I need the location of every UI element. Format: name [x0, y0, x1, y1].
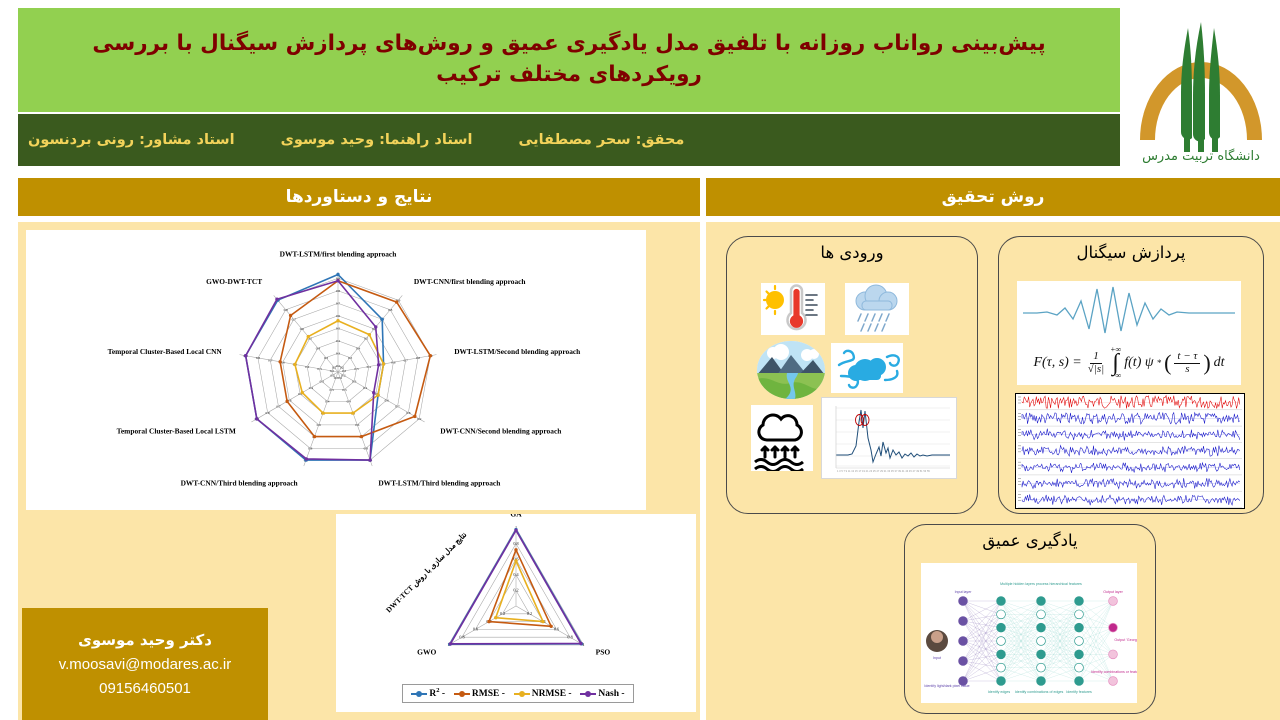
svg-text:0.9: 0.9 [417, 417, 422, 421]
neural-network-icon: Input layerMultiple hidden layers proces… [921, 563, 1137, 703]
svg-text:0.2: 0.2 [332, 365, 337, 369]
svg-text:0.8: 0.8 [416, 356, 421, 360]
svg-text:0.4: 0.4 [367, 365, 372, 369]
svg-text:Identify edges: Identify edges [988, 690, 1011, 694]
svg-text:0.5: 0.5 [336, 326, 341, 330]
svg-text:DWT-CNN/first blending approac: DWT-CNN/first blending approach [414, 277, 526, 286]
section-header-results-label: نتایج و دستاوردها [286, 187, 433, 207]
legend-swatch-rmse [454, 693, 470, 695]
svg-text:GWO: GWO [417, 648, 436, 657]
wavelet-formula-text: F(τ, s) = 1 √|s| +∞ ∫ −∞ f(t) ψ * ( t − … [1033, 346, 1224, 380]
author-supervisor: استاد راهنما: وحید موسوی [281, 132, 473, 148]
flood-icon [751, 405, 813, 471]
svg-text:0.8: 0.8 [567, 634, 572, 639]
inputs-box-title: ورودی ها [727, 243, 977, 262]
legend-item-r2: R2 - [411, 687, 445, 699]
svg-text:0.3: 0.3 [342, 388, 347, 392]
svg-text:0.2: 0.2 [330, 369, 335, 373]
svg-text:0.7: 0.7 [404, 358, 409, 362]
svg-text:DWT-LSTM/Third blending approa: DWT-LSTM/Third blending approach [378, 478, 500, 487]
contact-box: دکتر وحید موسوی v.moosavi@modares.ac.ir … [22, 608, 268, 720]
section-header-method-label: روش تحقیق [942, 187, 1045, 207]
svg-text:0.6: 0.6 [554, 627, 559, 632]
legend-item-rmse: RMSE - [454, 689, 505, 699]
svg-text:DWT-LSTM/Second blending appro: DWT-LSTM/Second blending approach [454, 347, 580, 356]
svg-text:DWT-CNN/Second blending approa: DWT-CNN/Second blending approach [440, 427, 561, 436]
svg-text:0.2: 0.2 [330, 373, 335, 377]
svg-text:0.8: 0.8 [266, 411, 271, 415]
svg-text:Identify combinations or featu: Identify combinations or features [1091, 670, 1137, 674]
author-advisor: استاد مشاور: رونی بردنسون [28, 132, 235, 148]
svg-text:Input: Input [933, 656, 941, 660]
poster-title-band: پیش‌بینی رواناب روزانه با تلفیق مدل یادگ… [18, 8, 1120, 112]
legend-swatch-nash [580, 693, 596, 695]
svg-text:0.2: 0.2 [338, 376, 343, 380]
svg-text:Output 'George': Output 'George' [1114, 638, 1137, 642]
formula-dt: dt [1214, 355, 1225, 371]
formula-den: √|s| [1085, 364, 1107, 376]
integral-sign-icon: ∫ [1112, 354, 1119, 372]
formula-paren-close: ) [1203, 350, 1210, 376]
model-comparison-radar-chart: 0.20.20.20.20.20.20.20.20.20.30.30.30.30… [26, 230, 646, 510]
temperature-icon [761, 283, 825, 335]
svg-text:0.6: 0.6 [385, 398, 390, 402]
svg-text:Input layer: Input layer [955, 590, 973, 594]
page-title: پیش‌بینی رواناب روزانه با تلفیق مدل یادگ… [44, 29, 1094, 90]
svg-text:0.4: 0.4 [309, 386, 314, 390]
formula-inner-den: s [1182, 364, 1192, 376]
author-band: محقق: سحر مصطفایی استاد راهنما: وحید موس… [18, 114, 1120, 166]
svg-text:Output layer: Output layer [1103, 590, 1123, 594]
svg-text:0.3: 0.3 [336, 351, 341, 355]
svg-text:Identify light/dark pixel valu: Identify light/dark pixel value [924, 684, 969, 688]
formula-paren-open: ( [1164, 350, 1171, 376]
svg-text:GA: GA [510, 514, 522, 519]
svg-text:0.8: 0.8 [459, 634, 464, 639]
legend-swatch-r2 [411, 693, 427, 695]
svg-text:0.7: 0.7 [276, 405, 281, 409]
wavelet-waveform-icon [1017, 281, 1241, 341]
svg-text:0.3: 0.3 [354, 367, 359, 371]
svg-text:0.7: 0.7 [336, 301, 341, 305]
svg-text:DWT-LSTM/first blending approa: DWT-LSTM/first blending approach [280, 250, 397, 259]
svg-text:0.3: 0.3 [324, 356, 329, 360]
legend-label-r2: R2 - [429, 687, 445, 699]
svg-text:0.4: 0.4 [363, 386, 368, 390]
deep-learning-box-title: یادگیری عمیق [905, 531, 1155, 550]
svg-text:0.6: 0.6 [300, 327, 305, 331]
svg-text:0.6: 0.6 [336, 314, 341, 318]
formula-lhs: F(τ, s) = [1033, 355, 1081, 371]
svg-text:0.4: 0.4 [305, 365, 310, 369]
inputs-box: ورودی ها [726, 236, 978, 514]
method-panel: ورودی ها [706, 222, 1280, 720]
svg-text:Temporal Cluster-Based Local L: Temporal Cluster-Based Local LSTM [117, 427, 236, 436]
optimizer-comparison-radar-chart: 0.20.20.20.40.40.40.60.60.60.80.80.8111G… [336, 514, 696, 712]
svg-text:0.4: 0.4 [513, 572, 519, 577]
legend-swatch-nrmse [514, 693, 530, 695]
svg-text:DWT-CNN/Third blending approac: DWT-CNN/Third blending approach [181, 478, 298, 487]
wind-icon [831, 343, 903, 393]
formula-star: * [1157, 358, 1162, 368]
formula-num: 1 [1090, 351, 1102, 364]
svg-text:0.7: 0.7 [292, 318, 297, 322]
wavelet-decomposition-icon [1015, 393, 1245, 509]
svg-text:Identify combinations of edges: Identify combinations of edges [1015, 690, 1064, 694]
svg-text:نتایج مدل سازی با روش DWT-TCT: نتایج مدل سازی با روش DWT-TCT [384, 530, 469, 615]
runoff-timeseries-icon: 1 3 5 7 9 11 13 15 17 19 21 23 25 27 29 … [821, 397, 957, 479]
svg-text:0.7: 0.7 [395, 405, 400, 409]
contact-name: دکتر وحید موسوی [78, 631, 212, 649]
legend-item-nrmse: NRMSE - [514, 689, 572, 699]
formula-body: f(t) ψ [1124, 355, 1153, 371]
university-logo-icon: دانشگاه تربیت مدرس [1126, 8, 1276, 168]
legend-label-nash: Nash - [598, 689, 624, 699]
section-header-method: روش تحقیق [706, 178, 1280, 216]
author-researcher: محقق: سحر مصطفایی [518, 132, 684, 148]
svg-text:0.4: 0.4 [347, 400, 352, 404]
svg-text:0.2: 0.2 [527, 611, 532, 616]
contact-email[interactable]: v.moosavi@modares.ac.ir [59, 656, 232, 673]
svg-text:Multiple hidden layers process: Multiple hidden layers process hierarchi… [1000, 582, 1082, 586]
svg-text:0.3: 0.3 [352, 380, 357, 384]
formula-lower: −∞ [1110, 372, 1121, 380]
svg-text:0.4: 0.4 [356, 346, 361, 350]
svg-text:Temporal Cluster-Based Local C: Temporal Cluster-Based Local CNN [108, 347, 223, 356]
legend-item-nash: Nash - [580, 689, 624, 699]
formula-inner-frac: t − τ s [1174, 351, 1200, 375]
svg-text:0.6: 0.6 [355, 423, 360, 427]
formula-integral: +∞ ∫ −∞ [1110, 346, 1121, 380]
signal-processing-box-title: پردازش سیگنال [999, 243, 1263, 262]
svg-text:0.6: 0.6 [317, 423, 322, 427]
svg-text:0.8: 0.8 [308, 447, 313, 451]
svg-text:0.2: 0.2 [500, 611, 505, 616]
svg-text:0.7: 0.7 [268, 358, 273, 362]
svg-text:0.2: 0.2 [513, 588, 518, 593]
rainfall-icon [845, 283, 909, 335]
svg-text:دانشگاه تربیت مدرس: دانشگاه تربیت مدرس [1142, 148, 1260, 164]
svg-text:PSO: PSO [596, 648, 611, 657]
svg-text:0.3: 0.3 [320, 380, 325, 384]
svg-text:1 3 5 7 9 11 13 15 17 19 21 23: 1 3 5 7 9 11 13 15 17 19 21 23 25 27 29 … [837, 469, 930, 473]
svg-text:0.6: 0.6 [473, 627, 478, 632]
svg-text:0.3: 0.3 [329, 388, 334, 392]
contact-phone: 09156460501 [99, 680, 191, 697]
catchment-icon [757, 341, 825, 399]
svg-text:0.8: 0.8 [513, 541, 518, 546]
svg-text:0.4: 0.4 [325, 400, 330, 404]
svg-text:0.8: 0.8 [336, 289, 341, 293]
legend-label-rmse: RMSE - [472, 689, 505, 699]
svg-text:0.4: 0.4 [336, 339, 341, 343]
wavelet-formula: F(τ, s) = 1 √|s| +∞ ∫ −∞ f(t) ψ * ( t − … [1017, 341, 1241, 385]
formula-inner-num: t − τ [1174, 351, 1200, 364]
poster-root: پیش‌بینی رواناب روزانه با تلفیق مدل یادگ… [0, 0, 1280, 720]
deep-learning-box: یادگیری عمیق Input layerMultiple hidden … [904, 524, 1156, 714]
svg-text:0.5: 0.5 [364, 337, 369, 341]
section-header-results: نتایج و دستاوردها [18, 178, 700, 216]
formula-prefactor: 1 √|s| [1085, 351, 1107, 375]
svg-text:GWO-DWT-TCT: GWO-DWT-TCT [206, 277, 262, 286]
svg-text:Identify features: Identify features [1066, 690, 1092, 694]
svg-text:0.3: 0.3 [317, 367, 322, 371]
signal-processing-box: پردازش سیگنال F(τ, s) = 1 √|s| +∞ ∫ [998, 236, 1264, 514]
svg-text:0.8: 0.8 [388, 308, 393, 312]
svg-text:0.4: 0.4 [316, 346, 321, 350]
svg-text:0.3: 0.3 [348, 356, 353, 360]
svg-text:0.6: 0.6 [391, 360, 396, 364]
svg-text:0.8: 0.8 [406, 411, 411, 415]
svg-text:0.8: 0.8 [364, 447, 369, 451]
svg-text:0.8: 0.8 [284, 308, 289, 312]
svg-text:0.8: 0.8 [256, 356, 261, 360]
radar-legend: R2 - RMSE - NRMSE - Nash - [402, 684, 634, 703]
legend-label-nrmse: NRMSE - [532, 689, 572, 699]
